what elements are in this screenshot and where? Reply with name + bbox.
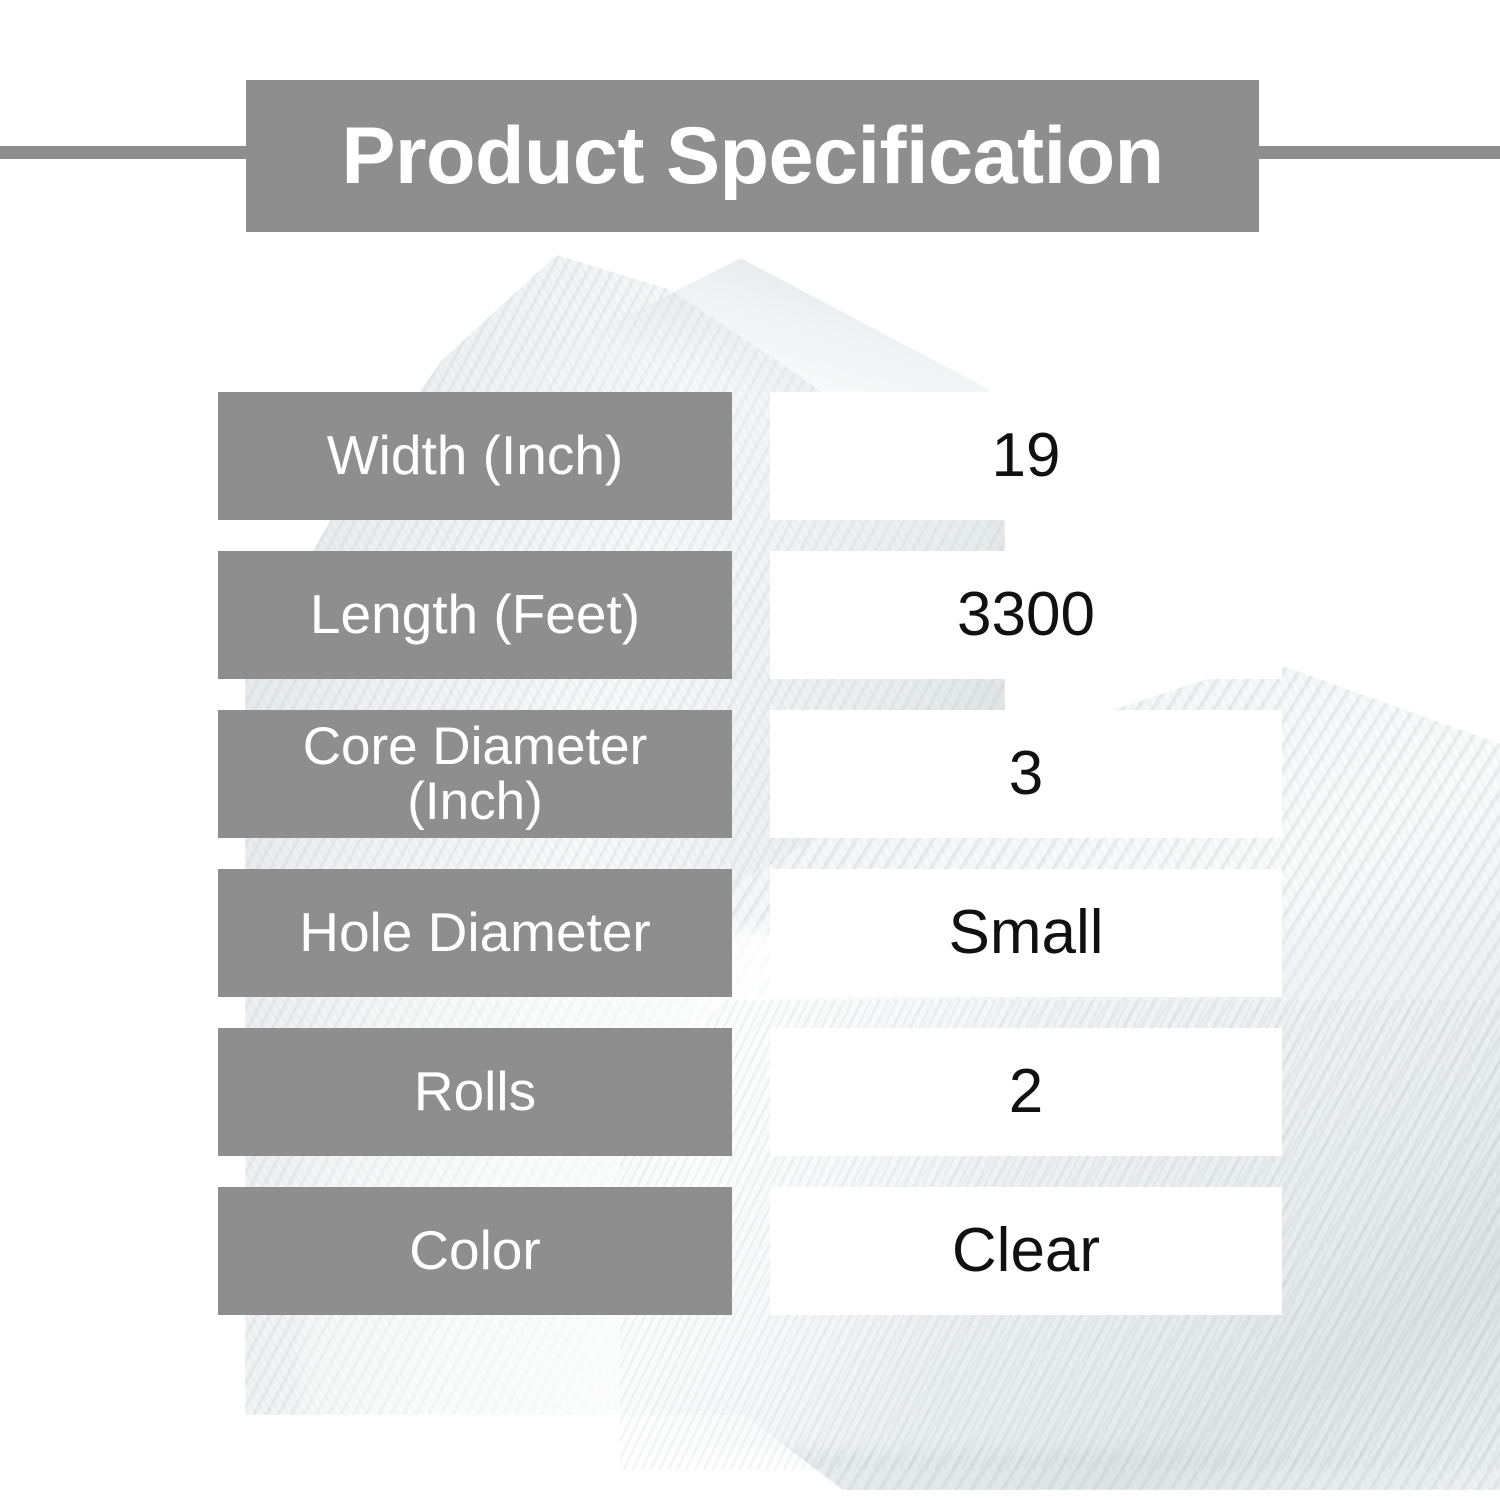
- spec-label-text: Rolls: [414, 1063, 536, 1121]
- title-rule-right: [1258, 146, 1500, 159]
- spec-value-cell-hole-diameter: Small: [770, 869, 1282, 997]
- page-title: Product Specification: [341, 116, 1163, 197]
- spec-value-text: 2: [1009, 1061, 1043, 1123]
- table-row: Width (Inch) 19: [218, 392, 1282, 520]
- table-row: Core Diameter (Inch) 3: [218, 710, 1282, 838]
- spec-label-cell-core-diameter: Core Diameter (Inch): [218, 710, 732, 838]
- spec-value-cell-color: Clear: [770, 1187, 1282, 1315]
- spec-label-cell-color: Color: [218, 1187, 732, 1315]
- table-row: Length (Feet) 3300: [218, 551, 1282, 679]
- spec-value-text: Clear: [952, 1220, 1100, 1282]
- spec-value-text: Small: [948, 902, 1103, 964]
- table-row: Rolls 2: [218, 1028, 1282, 1156]
- table-row: Color Clear: [218, 1187, 1282, 1315]
- spec-label-cell-rolls: Rolls: [218, 1028, 732, 1156]
- spec-value-text: 3300: [957, 584, 1095, 646]
- spec-label-text: Core Diameter (Inch): [232, 719, 718, 829]
- specification-table: Width (Inch) 19 Length (Feet) 3300 Core …: [218, 392, 1282, 1315]
- title-banner: Product Specification: [0, 80, 1500, 232]
- spec-label-text: Hole Diameter: [299, 904, 651, 962]
- title-bar: Product Specification: [246, 80, 1259, 232]
- spec-value-cell-width: 19: [770, 392, 1282, 520]
- spec-label-cell-length: Length (Feet): [218, 551, 732, 679]
- spec-label-cell-hole-diameter: Hole Diameter: [218, 869, 732, 997]
- spec-label-text: Length (Feet): [310, 586, 640, 644]
- spec-label-text: Color: [409, 1222, 540, 1280]
- spec-label-text: Width (Inch): [327, 427, 623, 485]
- product-specification-page: Product Specification Width (Inch) 19 Le…: [0, 0, 1500, 1500]
- spec-value-text: 19: [992, 425, 1061, 487]
- spec-value-cell-core-diameter: 3: [770, 710, 1282, 838]
- spec-label-cell-width: Width (Inch): [218, 392, 732, 520]
- spec-value-cell-rolls: 2: [770, 1028, 1282, 1156]
- table-row: Hole Diameter Small: [218, 869, 1282, 997]
- spec-value-text: 3: [1009, 743, 1043, 805]
- title-rule-left: [0, 146, 246, 159]
- spec-value-cell-length: 3300: [770, 551, 1282, 679]
